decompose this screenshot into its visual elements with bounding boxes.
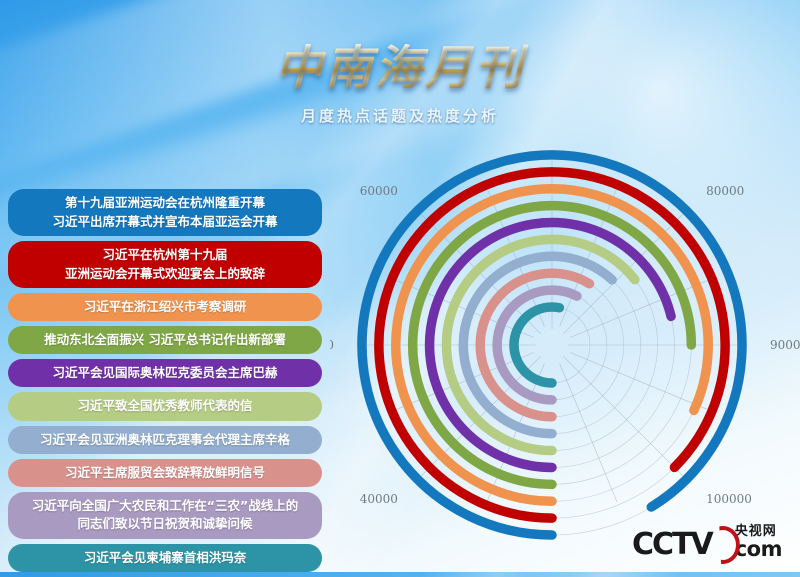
grid-spoke — [563, 356, 689, 482]
legend-item-8[interactable]: 习近平主席服贸会致辞释放鲜明信号 — [8, 459, 322, 487]
radial-chart-svg: 400005000060000700008000090000100000 — [330, 140, 800, 540]
legend-item-1[interactable]: 第十九届亚洲运动会在杭州隆重开幕习近平出席开幕式并宣布本届亚运会开幕 — [8, 189, 322, 236]
page-title: 中南海月刊 — [0, 44, 800, 93]
radial-chart: 400005000060000700008000090000100000 — [330, 140, 800, 540]
legend-item-9[interactable]: 习近平向全国广大农民和工作在“三农”战线上的同志们致以节日祝贺和诚挚问候 — [8, 492, 322, 539]
legend-item-label: 习近平在浙江绍兴市考察调研 — [84, 298, 247, 316]
legend-item-7[interactable]: 习近平会见亚洲奥林匹克理事会代理主席辛格 — [8, 426, 322, 454]
legend-list: 第十九届亚洲运动会在杭州隆重开幕习近平出席开幕式并宣布本届亚运会开幕习近平在杭州… — [8, 189, 322, 577]
cctv-com-text: com — [735, 539, 782, 560]
header: 中南海月刊 月度热点话题及热度分析 — [0, 44, 800, 126]
legend-item-5[interactable]: 习近平会见国际奥林匹克委员会主席巴赫 — [8, 359, 322, 387]
legend-item-2[interactable]: 习近平在杭州第十九届亚洲运动会开幕式欢迎宴会上的致辞 — [8, 241, 322, 288]
legend-item-label: 习近平主席服贸会致辞释放鲜明信号 — [65, 464, 265, 482]
cctv-wordmark: CCTV — [632, 530, 712, 560]
legend-item-4[interactable]: 推动东北全面振兴 习近平总书记作出新部署 — [8, 326, 322, 354]
grid-spoke-minor — [560, 363, 617, 502]
axis-tick-label: 60000 — [360, 184, 398, 198]
axis-tick-label: 100000 — [706, 492, 752, 506]
grid-spoke-minor — [570, 353, 709, 410]
legend-item-label: 习近平向全国广大农民和工作在“三农”战线上的同志们致以节日祝贺和诚挚问候 — [32, 497, 298, 533]
cctv-logo-right: 央视网 com — [735, 525, 782, 560]
legend-item-label: 习近平致全国优秀教师代表的信 — [77, 397, 252, 415]
axis-tick-label: 80000 — [706, 184, 744, 198]
legend-item-label: 习近平会见国际奥林匹克委员会主席巴赫 — [52, 364, 277, 382]
legend-item-3[interactable]: 习近平在浙江绍兴市考察调研 — [8, 293, 322, 321]
axis-tick-label: 50000 — [330, 338, 334, 352]
legend-item-10[interactable]: 习近平会见柬埔寨首相洪玛奈 — [8, 544, 322, 572]
legend-item-label: 推动东北全面振兴 习近平总书记作出新部署 — [44, 331, 286, 349]
legend-item-label: 习近平在杭州第十九届亚洲运动会开幕式欢迎宴会上的致辞 — [65, 246, 265, 282]
legend-item-label: 习近平会见亚洲奥林匹克理事会代理主席辛格 — [40, 431, 290, 449]
page-subtitle: 月度热点话题及热度分析 — [0, 105, 800, 126]
axis-tick-label: 40000 — [360, 492, 398, 506]
legend-item-6[interactable]: 习近平致全国优秀教师代表的信 — [8, 392, 322, 420]
legend-item-label: 第十九届亚洲运动会在杭州隆重开幕习近平出席开幕式并宣布本届亚运会开幕 — [52, 194, 277, 230]
cctv-swoosh-icon — [712, 530, 734, 560]
cctv-logo: CCTV 央视网 com — [632, 525, 782, 560]
legend-item-label: 习近平会见柬埔寨首相洪玛奈 — [84, 549, 247, 567]
axis-tick-label: 90000 — [770, 338, 800, 352]
